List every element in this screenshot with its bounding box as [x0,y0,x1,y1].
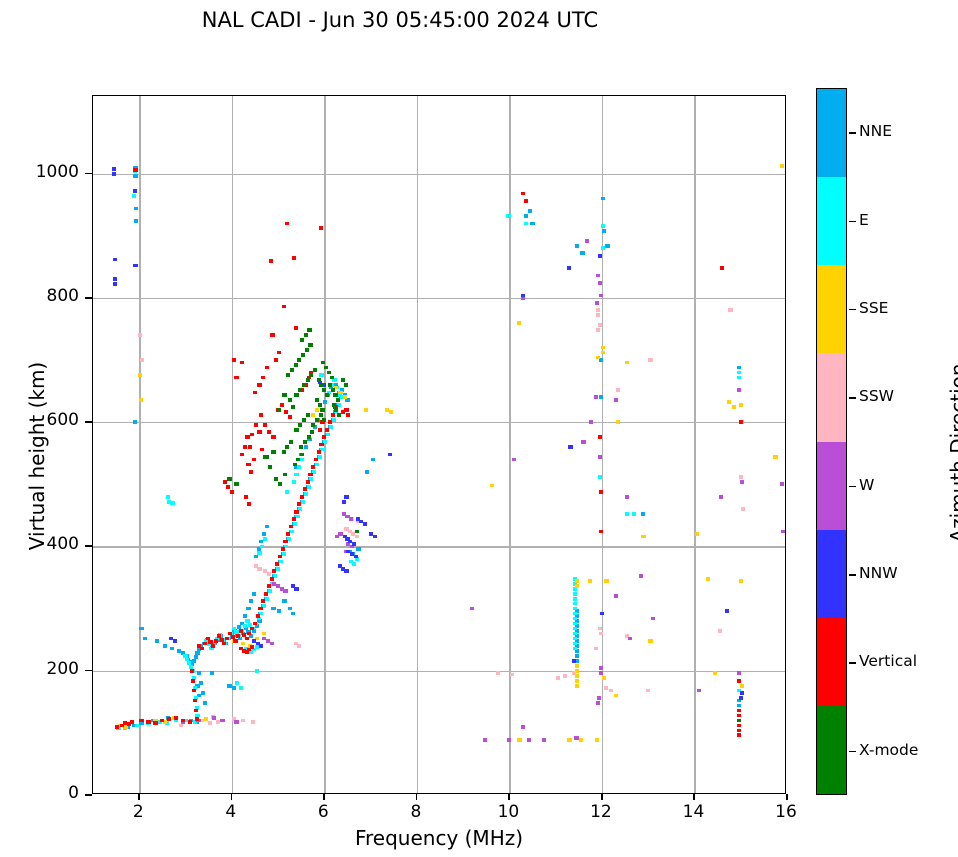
scatter-point [306,480,310,484]
scatter-point [191,679,195,683]
scatter-point [741,507,745,511]
scatter-point [331,413,335,417]
scatter-point [589,420,593,424]
scatter-point [268,589,272,593]
colorbar-tick [849,309,856,311]
scatter-point [284,545,288,549]
scatter-point [524,214,528,218]
scatter-point [318,428,322,432]
scatter-point [253,622,257,626]
scatter-point [243,445,247,449]
scatter-point [737,733,741,737]
y-tick-mark [85,545,92,547]
scatter-point [739,475,743,479]
scatter-point [322,388,326,392]
scatter-point [300,338,304,342]
scatter-point [308,343,312,347]
scatter-point [527,738,531,742]
scatter-point [604,686,608,690]
scatter-point [246,463,250,467]
scatter-point [338,391,342,395]
scatter-point [574,736,578,740]
scatter-point [269,259,273,263]
scatter-point [373,535,377,539]
scatter-point [203,642,207,646]
scatter-point [327,371,331,375]
scatter-point [222,642,226,646]
scatter-point [333,393,337,397]
scatter-point [737,704,741,708]
scatter-point [138,373,142,377]
scatter-point [573,607,577,611]
scatter-point [261,599,265,603]
scatter-point [585,239,589,243]
scatter-point [235,681,239,685]
scatter-point [317,450,321,454]
scatter-point [317,378,321,382]
scatter-point [264,592,268,596]
scatter-point [250,627,254,631]
scatter-point [344,408,348,412]
y-tick-mark [85,173,92,175]
colorbar-tick [849,132,856,134]
scatter-point [265,366,269,370]
scatter-point [257,383,261,387]
scatter-point [720,266,724,270]
scatter-point [277,408,281,412]
scatter-point [598,281,602,285]
scatter-point [322,418,326,422]
scatter-point [293,463,297,467]
scatter-point [369,532,373,536]
scatter-point [355,535,359,539]
scatter-point [253,391,257,395]
scatter-point [257,551,261,555]
scatter-point [139,398,143,402]
scatter-point [247,632,251,636]
scatter-point [139,627,143,631]
scatter-point [251,720,255,724]
scatter-point [325,428,329,432]
scatter-point [388,453,392,457]
scatter-point [651,617,655,621]
scatter-point [345,537,349,541]
scatter-point [249,470,253,474]
scatter-point [282,393,286,397]
scatter-point [326,433,330,437]
scatter-point [602,229,606,233]
scatter-point [737,388,741,392]
scatter-point [304,333,308,337]
scatter-point [304,492,308,496]
scatter-point [780,482,784,486]
scatter-point [521,294,525,298]
scatter-point [291,612,295,616]
scatter-point [270,577,274,581]
scatter-point [262,604,266,608]
scatter-point [290,368,294,372]
scatter-point [739,696,743,700]
scatter-point [302,383,306,387]
scatter-point [483,738,487,742]
scatter-point [270,333,274,337]
scatter-point [334,408,338,412]
scatter-point [573,612,577,616]
scatter-point [112,172,116,176]
scatter-point [363,522,367,526]
scatter-point [573,617,577,621]
scatter-point [648,639,652,643]
scatter-point [245,435,249,439]
scatter-point [595,738,599,742]
scatter-point [343,395,347,399]
y-tick-label: 200 [0,659,79,679]
scatter-point [739,403,743,407]
scatter-point [625,512,629,516]
scatter-point [282,450,286,454]
page-title: NAL CADI - Jun 30 05:45:00 2024 UTC [0,8,800,32]
scatter-point [600,612,604,616]
scatter-point [542,738,546,742]
scatter-point [294,587,298,591]
scatter-point [298,423,302,427]
scatter-point [300,458,304,462]
scatter-point [568,445,572,449]
scatter-point [130,720,134,724]
scatter-point [277,609,281,613]
scatter-point [247,502,251,506]
scatter-point [602,676,606,680]
scatter-point [490,484,494,488]
scatter-point [573,592,577,596]
scatter-point [614,694,618,698]
scatter-point [236,634,240,638]
scatter-point [328,420,332,424]
scatter-point [133,264,137,268]
scatter-point [342,500,346,504]
colorbar-tick [849,486,856,488]
scatter-point [706,577,710,581]
scatter-point [521,725,525,729]
x-tick-mark [323,794,325,800]
colorbar-tick-label-ssw: SSW [859,387,894,405]
scatter-point [307,435,311,439]
scatter-point [271,450,275,454]
scatter-point [264,455,268,459]
scatter-point [283,589,287,593]
scatter-point [573,647,577,651]
colorbar-segment-nnw[interactable] [817,530,846,618]
scatter-point [275,562,279,566]
scatter-point [727,400,731,404]
scatter-point [290,530,294,534]
scatter-point [270,642,274,646]
scatter-point [276,567,280,571]
scatter-point [299,445,303,449]
colorbar-segment-vertical[interactable] [817,618,846,706]
colorbar-segment-e[interactable] [817,177,846,265]
scatter-point [614,398,618,402]
scatter-point [641,512,645,516]
scatter-point [320,408,324,412]
scatter-point [781,530,785,534]
scatter-point [174,716,178,720]
scatter-point [216,720,220,724]
colorbar-tick-label-nne: NNE [859,122,892,140]
scatter-point [322,435,326,439]
scatter-point [298,507,302,511]
scatter-point [226,485,230,489]
scatter-point [581,440,585,444]
scatter-point [230,490,234,494]
scatter-point [575,664,579,668]
scatter-point [648,358,652,362]
scatter-point [524,222,528,226]
scatter-point [267,430,271,434]
scatter-point [365,470,369,474]
colorbar[interactable] [816,88,847,795]
scatter-point [133,168,137,172]
scatter-point [298,388,302,392]
x-axis-label: Frequency (MHz) [92,826,786,850]
scatter-point [211,644,215,648]
scatter-point [725,609,729,613]
scatter-point [194,655,198,659]
scatter-point [277,351,281,355]
scatter-point [300,453,304,457]
scatter-point [575,679,579,683]
scatter-point [192,659,196,663]
scatter-point [279,560,283,564]
scatter-point [594,395,598,399]
colorbar-segment-nne[interactable] [817,89,846,177]
colorbar-tick [849,662,856,664]
scatter-point [201,691,205,695]
scatter-point [308,473,312,477]
scatter-point [364,408,368,412]
scatter-point [305,348,309,352]
scatter-point [200,647,204,651]
scatter-point [580,251,584,255]
scatter-point [318,455,322,459]
scatter-point [567,266,571,270]
scatter-point [528,209,532,213]
scatter-point [143,637,147,641]
scatter-point [132,194,136,198]
scatter-point [517,321,521,325]
x-tick-mark [508,794,510,800]
scatter-point [112,167,116,171]
scatter-point [282,305,286,309]
scatter-point [227,477,231,481]
scatter-point [241,642,245,646]
scatter-point [259,612,263,616]
scatter-point [265,525,269,529]
scatter-point [267,572,271,576]
colorbar-tick [849,751,856,753]
scatter-point [354,555,358,559]
scatter-point [517,738,521,742]
scatter-point [740,480,744,484]
scatter-point [257,567,261,571]
scatter-point [283,540,287,544]
scatter-point [320,448,324,452]
scatter-point [304,445,308,449]
scatter-point [234,720,238,724]
scatter-point [737,719,741,723]
scatter-point [223,480,227,484]
scatter-point [572,671,576,675]
colorbar-tick-label-w: W [859,476,874,494]
scatter-point [572,659,576,663]
scatter-point [190,669,194,673]
colorbar-tick [849,574,856,576]
scatter-point [332,418,336,422]
scatter-point [296,458,300,462]
scatter-point [737,376,741,380]
scatter-point [302,418,306,422]
scatter-point [246,607,250,611]
scatter-point [780,164,784,168]
scatter-point [713,671,717,675]
y-tick-mark [85,794,92,796]
scatter-point [625,495,629,499]
scatter-point [646,689,650,693]
scatter-point [737,671,741,675]
colorbar-segment-w[interactable] [817,442,846,530]
scatter-point [139,719,143,723]
scatter-point [732,405,736,409]
x-tick-mark [138,794,140,800]
colorbar-tick-label-nnw: NNW [859,564,898,582]
scatter-point [315,418,319,422]
scatter-point [575,579,579,583]
scatter-point [285,490,289,494]
scatter-point [295,515,299,519]
y-axis-label: Virtual height (km) [25,266,49,646]
scatter-point [355,530,359,534]
scatter-point [598,475,602,479]
scatter-point [294,326,298,330]
scatter-point [336,398,340,402]
colorbar-segment-ssw[interactable] [817,353,846,441]
scatter-point [307,485,311,489]
colorbar-tick [849,221,856,223]
scatter-point [315,463,319,467]
scatter-point [315,398,319,402]
scatter-point [599,671,603,675]
x-tick-label: 2 [116,802,160,822]
colorbar-tick-label-x-mode: X-mode [859,741,918,759]
scatter-point [240,453,244,457]
colorbar-tick-label-sse: SSE [859,299,888,317]
scatter-point [281,547,285,551]
colorbar-segment-sse[interactable] [817,265,846,353]
scatter-point [240,361,244,365]
scatter-point [163,644,167,648]
plot-area[interactable] [92,95,786,794]
scatter-point [616,420,620,424]
scatter-point [243,624,247,628]
scatter-point [599,632,603,636]
scatter-point [208,721,212,725]
scatter-point [596,701,600,705]
scatter-point [232,686,236,690]
scatter-point [268,465,272,469]
scatter-point [737,729,741,733]
ionogram-figure: NAL CADI - Jun 30 05:45:00 2024 UTC 2468… [0,0,958,857]
scatter-point [573,632,577,636]
scatter-point [601,197,605,201]
scatter-point [303,487,307,491]
scatter-point [344,569,348,573]
scatter-point [307,328,311,332]
colorbar-segment-x-mode[interactable] [817,706,846,794]
scatter-point [601,246,605,250]
scatter-point [628,637,632,641]
scatter-point [289,440,293,444]
scatter-point [297,358,301,362]
scatter-point [321,361,325,365]
scatter-point [225,637,229,641]
scatter-point [567,738,571,742]
scatter-point [173,639,177,643]
scatter-point [300,495,304,499]
scatter-point [312,470,316,474]
scatter-point [288,415,292,419]
scatter-point [282,599,286,603]
scatter-point [575,244,579,248]
colorbar-tick [849,397,856,399]
scatter-point [254,555,258,559]
scatter-point [283,473,287,477]
scatter-point [155,639,159,643]
scatter-point [286,532,290,536]
scatter-point [297,465,301,469]
scatter-point [285,222,289,226]
scatter-point [133,189,137,193]
scatter-point [306,378,310,382]
scatter-point [309,373,313,377]
x-tick-label: 4 [209,802,253,822]
scatter-point [371,458,375,462]
scatter-point [249,599,253,603]
scatter-point [313,368,317,372]
scatter-point [197,671,201,675]
scatter-point [573,637,577,641]
scatter-point [260,545,264,549]
scatter-point [331,388,335,392]
y-tick-mark [85,670,92,672]
scatter-point [282,552,286,556]
scatter-point [718,629,722,633]
scatter-point [170,647,174,651]
scatter-point [695,532,699,536]
scatter-point [285,445,289,449]
scatter-point [134,207,138,211]
scatter-point [324,366,328,370]
y-tick-label: 0 [0,783,79,803]
y-tick-mark [85,421,92,423]
scatter-point [311,413,315,417]
scatter-point [599,395,603,399]
scatter-point [737,709,741,713]
scatter-point [579,738,583,742]
x-tick-label: 6 [301,802,345,822]
scatter-point [294,473,298,477]
scatter-point [233,639,237,643]
scatter-point [241,719,245,723]
